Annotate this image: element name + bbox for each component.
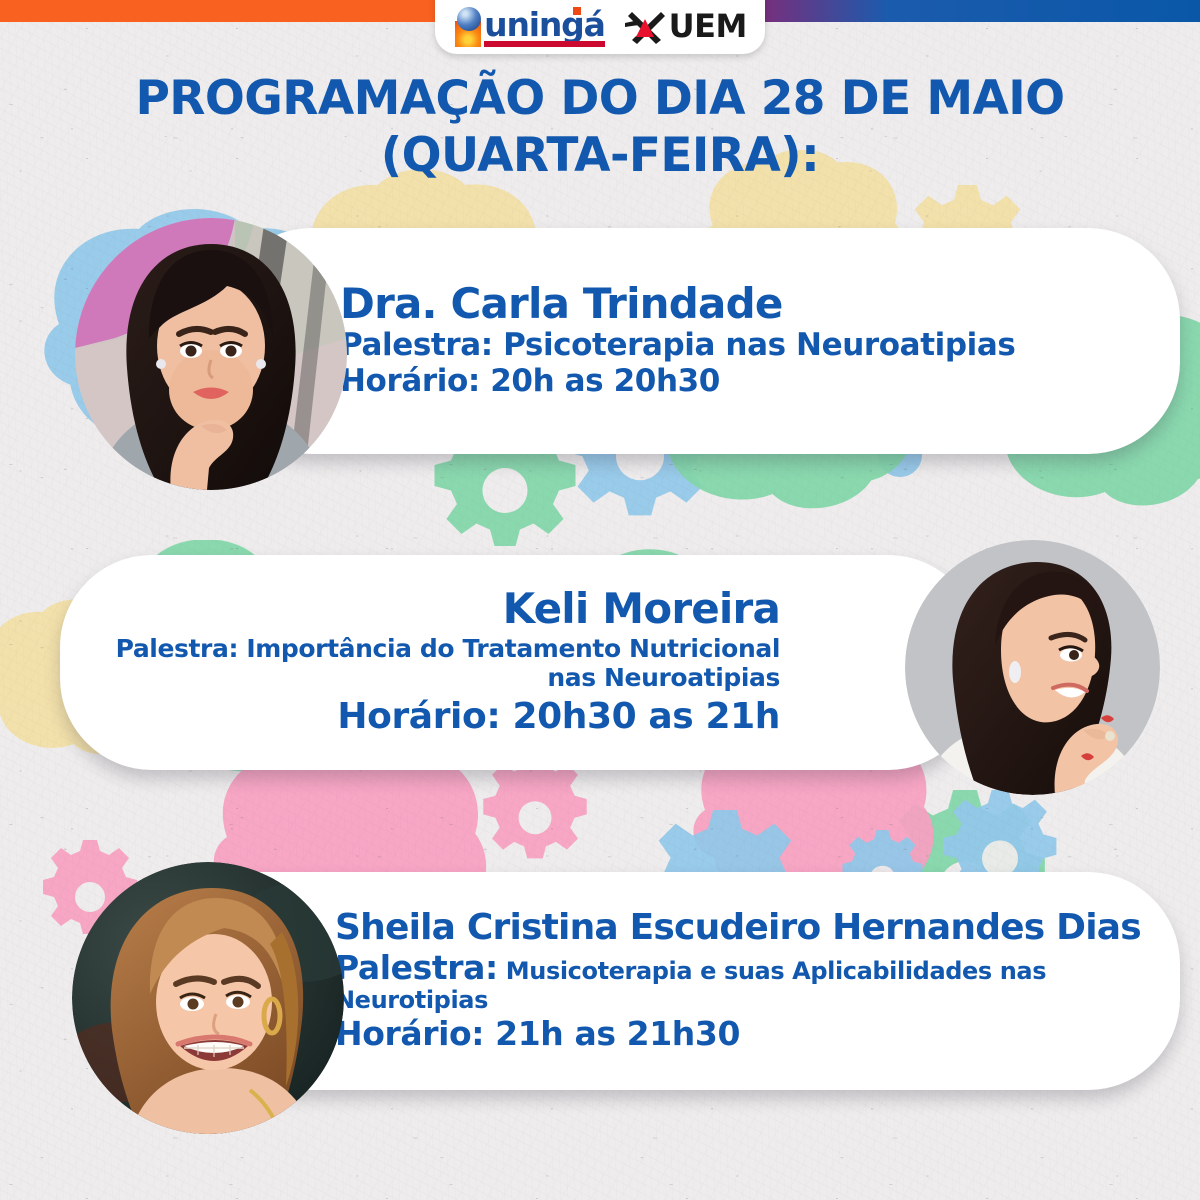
- speaker-photo-3: [72, 862, 344, 1134]
- title-line-2: (QUARTA-FEIRA):: [0, 127, 1200, 184]
- speaker-photo-2: [905, 540, 1160, 795]
- event-poster: uningá UEM PROGRAMAÇÃO DO DIA 28 DE MAIO…: [0, 0, 1200, 1200]
- speaker-avatar-2: [905, 540, 1160, 795]
- speaker-talk-3: Palestra: Musicoterapia e suas Aplicabil…: [335, 949, 1150, 1015]
- speaker-name-1: Dra. Carla Trindade: [340, 282, 783, 326]
- speaker-talk-1: Palestra: Psicoterapia nas Neuroatipias: [340, 328, 1015, 364]
- speaker-name-2: Keli Moreira: [503, 587, 780, 631]
- speaker-photo-1: [75, 218, 347, 490]
- speaker-avatar-3: [72, 862, 344, 1134]
- page-title: PROGRAMAÇÃO DO DIA 28 DE MAIO (QUARTA-FE…: [0, 70, 1200, 185]
- speaker-card-2[interactable]: Keli Moreira Palestra: Importância do Tr…: [60, 555, 980, 770]
- speaker-time-2: Horário: 20h30 as 21h: [337, 696, 780, 738]
- uem-logo: UEM: [623, 5, 747, 47]
- uem-logo-text: UEM: [669, 10, 747, 42]
- uninga-logo: uningá: [453, 5, 604, 47]
- uninga-logo-text: uningá: [484, 10, 604, 40]
- logo-banner: uningá UEM: [435, 0, 765, 54]
- speaker-talk-label-3: Palestra:: [335, 948, 498, 987]
- speaker-time-3: Horário: 21h as 21h30: [335, 1015, 740, 1053]
- uem-mark-icon: [623, 7, 667, 45]
- title-line-1: PROGRAMAÇÃO DO DIA 28 DE MAIO: [0, 70, 1200, 127]
- uninga-mark-icon: [453, 7, 483, 47]
- uninga-accent-square-icon: [573, 7, 581, 15]
- speaker-avatar-1: [75, 218, 347, 490]
- speaker-time-1: Horário: 20h as 20h30: [340, 364, 720, 400]
- speaker-talk-2: Palestra: Importância do Tratamento Nutr…: [80, 634, 780, 692]
- speaker-card-1[interactable]: Dra. Carla Trindade Palestra: Psicoterap…: [220, 228, 1180, 454]
- uninga-underline: [484, 41, 604, 47]
- speaker-name-3: Sheila Cristina Escudeiro Hernandes Dias: [335, 909, 1141, 946]
